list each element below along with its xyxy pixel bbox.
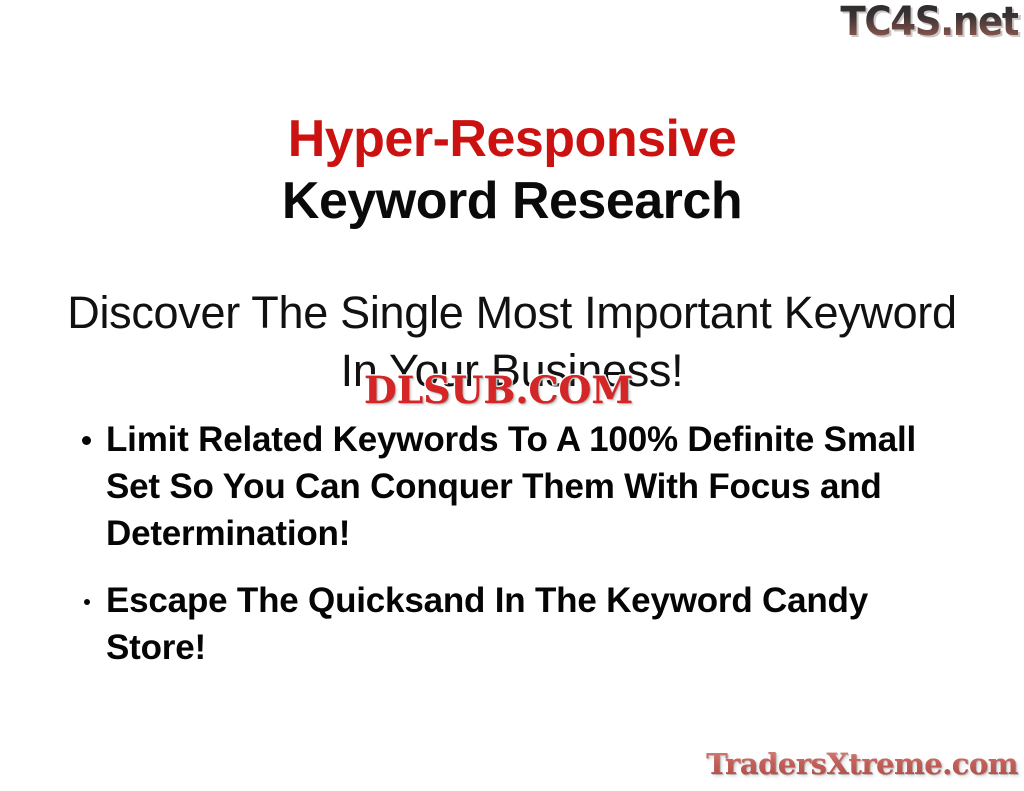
list-item: Escape The Quicksand In The Keyword Cand…: [74, 577, 954, 671]
list-item-text: Escape The Quicksand In The Keyword Cand…: [106, 581, 868, 667]
list-item-text: Limit Related Keywords To A 100% Definit…: [106, 420, 916, 553]
bullet-list: Limit Related Keywords To A 100% Definit…: [74, 416, 954, 671]
title-line-primary: Hyper-Responsive: [0, 108, 1024, 170]
presentation-slide: TC4S.net TC4S.net Hyper-Responsive Keywo…: [0, 0, 1024, 791]
brand-logo-tc4s: TC4S.net: [840, 2, 1018, 42]
watermark-dlsub: DLSUB.COM: [364, 368, 633, 412]
bullet-dot-icon: [84, 599, 90, 605]
footer-logo: TradersXtreme.com TradersXtreme.com: [706, 745, 1018, 783]
title-line-secondary: Keyword Research: [0, 170, 1024, 232]
bullet-dot-icon: [82, 436, 91, 445]
list-item: Limit Related Keywords To A 100% Definit…: [74, 416, 954, 557]
page-title: Hyper-Responsive Keyword Research: [0, 108, 1024, 232]
footer-logo-outline: TradersXtreme.com: [706, 745, 1018, 783]
